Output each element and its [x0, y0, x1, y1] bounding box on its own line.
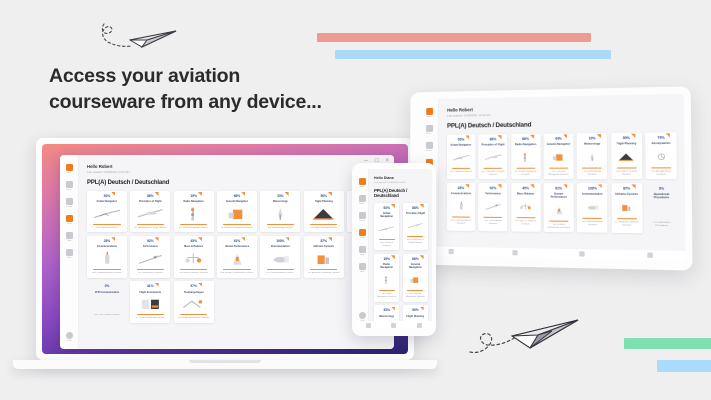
card-thumbnail	[266, 206, 295, 222]
card-progress-percent: 45%	[522, 186, 529, 190]
rail-label: Stats	[67, 240, 71, 242]
card-title: Performance	[485, 192, 501, 195]
rail-label: Mehr	[67, 257, 71, 259]
card-corner-flag	[111, 237, 115, 241]
course-card[interactable]: 50%Flight Planning033 Flight Planning De…	[611, 132, 642, 179]
card-progress-percent: 41%	[147, 284, 154, 288]
card-corner-flag	[563, 134, 567, 138]
rail-item-lernen[interactable]: Lernen	[64, 198, 75, 208]
phone-sidebar-rail: HomeKurseLernenTestsStatsMehrProfil	[356, 169, 369, 329]
phone-course-grid: 53%Airlaw Navigation010 Luftrecht Deutsc…	[374, 203, 428, 330]
card-progress-percent: 57%	[190, 284, 197, 288]
card-caption: 090 Communications Deutsch	[92, 272, 121, 275]
course-card[interactable]: 57%PruefungsfragenPruefungsvorbereitung …	[174, 281, 214, 323]
card-progress-percent: 61%	[234, 239, 241, 243]
card-progress-percent: 100%	[276, 239, 284, 243]
rail-item-profile[interactable]: Profil	[64, 332, 75, 342]
card-progress-percent: 50%	[412, 308, 419, 312]
course-card[interactable]: 45%Mass & Balance031 Mass & Balance Deut…	[174, 236, 214, 278]
phone-body: HomeKurseLernenTestsStatsMehrProfil Hell…	[352, 163, 436, 336]
card-corner-flag	[420, 255, 424, 259]
card-progress-bar	[651, 167, 671, 168]
course-card[interactable]: 66%General Navigation061 General Navigat…	[217, 191, 257, 233]
card-caption: 033 Flight Planning Deutsch	[614, 171, 639, 177]
rail-label: Kurse	[67, 189, 72, 191]
rail-icon	[426, 108, 433, 115]
card-thumbnail	[93, 206, 122, 222]
rail-item-stats[interactable]: Stats	[357, 246, 368, 256]
card-progress-percent: 74%	[657, 135, 664, 139]
card-progress-percent: 53%	[383, 206, 390, 210]
course-card[interactable]: 50%Flight Planning033 Flight Planning De…	[304, 191, 344, 233]
card-thumbnail	[407, 218, 424, 234]
card-progress-bar	[617, 167, 637, 168]
card-progress-bar	[452, 167, 470, 168]
laptop-content: Hello Robert Last opened: 11/06/2019, 10…	[79, 155, 394, 349]
decor-bar-blue-bottom	[657, 360, 711, 372]
window-controls: – □ ×	[365, 158, 389, 164]
card-title: Airframe Systems	[615, 193, 638, 196]
card-corner-flag	[391, 307, 395, 311]
card-progress-bar	[223, 224, 250, 225]
card-title: Mass Balance	[517, 193, 534, 196]
card-progress-percent: 50%	[623, 135, 630, 139]
laptop-sidebar-rail: HomeKurseLernenTestsStatsMehrProfil	[60, 155, 79, 349]
course-card[interactable]: 88%Principles of Flight081 Grundlagen Of…	[130, 191, 170, 233]
card-caption: 090 Communications Deutsch	[449, 220, 472, 226]
card-corner-flag	[328, 237, 332, 241]
card-corner-flag	[155, 283, 159, 287]
laptop-app-window: – □ × HomeKurseLernenTestsStatsMehrProfi…	[60, 155, 394, 349]
card-thumbnail	[309, 206, 338, 222]
course-card[interactable]: 61%Human Performance040 Human Performanc…	[544, 183, 574, 233]
card-progress-bar	[379, 290, 395, 291]
card-corner-flag	[241, 192, 245, 196]
course-card[interactable]: 28%Communications090 Communications Deut…	[447, 183, 475, 232]
card-progress-percent: 19%	[190, 194, 197, 198]
card-title: Radio Navigation	[183, 200, 203, 203]
card-title: Flight Planning	[315, 200, 333, 203]
card-thumbnail	[651, 202, 672, 219]
rail-item-kurse[interactable]: Kurse	[64, 181, 75, 191]
card-corner-flag	[111, 192, 115, 196]
card-caption: 070 Operational Procedures	[649, 221, 675, 227]
tablet-mockup: HomeKurseLernenTestsMehr Hello Robert La…	[410, 92, 676, 264]
card-progress-bar	[549, 220, 568, 222]
rail-icon	[359, 229, 366, 236]
maximize-button[interactable]: □	[375, 158, 379, 164]
card-progress-bar	[516, 217, 535, 219]
card-caption: Pruefungsvorbereitung Deutsch	[178, 317, 209, 320]
card-title: Principles Flight	[406, 212, 425, 215]
chart-icon[interactable]	[417, 323, 422, 328]
card-progress-bar	[180, 269, 207, 270]
course-card[interactable]: 19%Radio Navigation062 Radio Navigation …	[174, 191, 214, 233]
course-card[interactable]: 0%VFR Communication091 VFR Comms Deutsch	[87, 281, 127, 323]
rail-icon	[359, 246, 366, 253]
card-caption: 081 Principles Of Flight Deutsch	[405, 239, 425, 245]
card-corner-flag	[465, 135, 469, 139]
card-corner-flag	[530, 184, 534, 188]
course-card[interactable]: 66%Radio Navigation062 Radio Navigation …	[511, 133, 540, 179]
card-progress-percent: 100%	[588, 186, 597, 190]
card-corner-flag	[631, 134, 635, 138]
rail-label: Lernen	[426, 150, 432, 152]
card-progress-percent: 50%	[320, 194, 327, 198]
tablet-app-window: HomeKurseLernenTestsMehr Hello Robert La…	[420, 94, 686, 261]
card-title: Flight Instruments	[139, 291, 161, 294]
card-corner-flag	[198, 283, 202, 287]
card-title: Communications	[97, 245, 117, 248]
card-thumbnail	[549, 202, 569, 219]
card-caption: 050 Meteorology Deutsch	[580, 171, 605, 177]
card-thumbnail	[179, 251, 208, 267]
card-caption: 032 Performance Deutsch	[481, 220, 505, 226]
greeting: Hello Diana	[374, 176, 428, 180]
card-progress-bar	[407, 290, 423, 291]
card-progress-bar	[267, 269, 294, 270]
card-progress-bar	[137, 224, 164, 225]
phone-app-window: HomeKurseLernenTestsStatsMehrProfil Hell…	[356, 169, 432, 329]
card-thumbnail	[93, 296, 122, 312]
card-corner-flag	[155, 237, 159, 241]
card-caption: 021 Airframe Systems Deutsch	[614, 221, 639, 227]
card-thumbnail	[93, 251, 122, 267]
rail-icon	[426, 142, 433, 149]
card-title: General Navigation	[546, 143, 570, 146]
rail-label: Lernen	[66, 206, 72, 208]
rail-item-home[interactable]: Home	[357, 178, 368, 188]
card-title: Meteorology	[379, 315, 394, 318]
card-corner-flag	[391, 204, 395, 208]
card-corner-flag	[241, 237, 245, 241]
card-thumbnail	[516, 198, 536, 215]
card-progress-bar	[452, 216, 470, 217]
card-corner-flag	[198, 192, 202, 196]
rail-label: Lernen	[359, 220, 365, 222]
card-corner-flag	[631, 184, 635, 188]
card-thumbnail	[483, 149, 502, 165]
card-title: VFR Communication	[95, 291, 120, 294]
card-title: Airframe Systems	[313, 245, 334, 248]
card-progress-bar	[379, 239, 395, 240]
course-card[interactable]: 100%Instrumentation022 Instrumentation D…	[260, 236, 300, 278]
rail-label: Mehr	[360, 271, 364, 273]
rail-item-tests[interactable]: Tests	[357, 229, 368, 239]
card-caption: 061 General Navigation Deutsch	[221, 227, 253, 230]
card-progress-percent: 66%	[522, 136, 529, 140]
card-progress-percent: 61%	[555, 186, 562, 190]
card-progress-bar	[407, 236, 423, 237]
rail-label: Home	[359, 186, 364, 188]
card-thumbnail	[616, 148, 637, 165]
card-thumbnail	[266, 251, 295, 267]
course-card[interactable]: 66%General Navigation061 General Navigat…	[403, 254, 428, 302]
rail-label: Stats	[360, 254, 364, 256]
course-card[interactable]: 53%Airlaw Navigation010 Luftrecht Deutsc…	[447, 134, 475, 179]
card-corner-flag	[391, 255, 395, 259]
card-caption: 040 Human Performance Deutsch	[547, 224, 571, 230]
rail-icon	[66, 164, 73, 171]
rail-item-mehr[interactable]: Mehr	[64, 249, 75, 259]
card-title: Human Performance	[547, 193, 571, 200]
card-thumbnail	[223, 206, 252, 222]
card-caption: 032 Performance Deutsch	[138, 272, 163, 275]
tablet-course-grid: 53%Airlaw Navigation010 Luftrecht Deutsc…	[447, 132, 678, 234]
card-title: Aerodynamics	[651, 142, 670, 145]
course-card[interactable]: 44%General Navigation061 General Navigat…	[544, 133, 574, 179]
rail-icon	[426, 125, 433, 132]
rail-item-home[interactable]: Home	[424, 108, 435, 118]
card-title: Airlaw Navigation	[96, 200, 117, 203]
card-corner-flag	[598, 184, 602, 188]
card-title: Principles of Flight	[481, 143, 504, 146]
card-caption: 081 Grundlagen Of Flight Deutsch	[134, 227, 167, 230]
course-card[interactable]: 45%Mass Balance031 Mass & Balance Deutsc…	[511, 183, 540, 233]
tablet-body: HomeKurseLernenTestsMehr Hello Robert La…	[410, 86, 693, 270]
card-thumbnail	[582, 148, 602, 165]
card-progress-bar	[583, 167, 602, 168]
rail-label: Home	[66, 172, 71, 174]
page-title: Access your aviation courseware from any…	[49, 63, 322, 115]
greeting: Hello Robert	[87, 164, 387, 169]
decor-bar-green	[624, 338, 711, 349]
greeting-subtext: Last opened: 11/06/2019, 10:42 ›	[374, 182, 428, 184]
card-title: Instrumentation	[582, 193, 602, 196]
card-progress-percent: 19%	[589, 136, 596, 140]
paper-plane-top-left-icon	[96, 16, 182, 63]
rail-icon	[66, 181, 73, 188]
card-progress-bar	[484, 167, 502, 168]
rail-icon	[66, 215, 73, 222]
course-card[interactable]: 53%Airlaw Navigation010 Luftrecht Deutsc…	[374, 203, 399, 251]
card-thumbnail	[582, 199, 602, 216]
book-icon[interactable]	[513, 250, 518, 255]
card-progress-percent: 28%	[458, 186, 465, 190]
phone-mockup: HomeKurseLernenTestsStatsMehrProfil Hell…	[352, 163, 436, 336]
card-corner-flag	[285, 237, 289, 241]
card-thumbnail	[378, 221, 395, 237]
card-corner-flag	[497, 135, 501, 139]
card-progress-bar	[310, 269, 337, 270]
card-progress-bar	[583, 217, 602, 219]
rail-label: Tests	[67, 223, 71, 225]
card-thumbnail	[378, 272, 395, 288]
book-icon[interactable]	[391, 323, 396, 328]
card-caption: 081 Principles Of Flight Deutsch	[481, 171, 505, 177]
user-icon[interactable]	[648, 253, 654, 258]
card-title: Flight Planning	[406, 315, 424, 318]
card-progress-percent: 87%	[320, 239, 327, 243]
card-thumbnail	[223, 251, 252, 267]
card-progress-bar	[180, 224, 207, 225]
card-title: Human Performance	[225, 245, 249, 248]
card-caption: 061 General Navigation Deutsch	[405, 293, 425, 299]
grid-icon[interactable]	[448, 249, 453, 254]
card-corner-flag	[285, 192, 289, 196]
close-button[interactable]: ×	[385, 158, 389, 164]
tablet-content: Hello Robert Last opened: 11/06/2019, 10…	[439, 94, 686, 261]
course-title: PPL(A) Deutsch / Deutschland	[447, 120, 676, 129]
card-title: Instrumentation	[271, 245, 290, 248]
card-progress-percent: 87%	[623, 186, 630, 190]
card-progress-percent: 92%	[147, 239, 154, 243]
card-thumbnail	[309, 251, 338, 267]
card-corner-flag	[198, 237, 202, 241]
card-corner-flag	[497, 184, 501, 188]
chart-icon[interactable]	[579, 251, 584, 256]
card-caption: 040 Human Performance Deutsch	[220, 272, 253, 275]
card-corner-flag	[328, 192, 332, 196]
card-progress-bar	[549, 167, 568, 168]
card-thumbnail	[483, 198, 502, 215]
card-progress-bar	[93, 224, 120, 225]
course-card[interactable]: 41%Flight Instruments022 Flight Instrume…	[130, 281, 170, 323]
card-title: General Navigation	[405, 263, 425, 269]
card-thumbnail	[616, 199, 637, 216]
rail-icon	[359, 178, 366, 185]
card-title: Principles of Flight	[139, 200, 162, 203]
phone-content: Hello Diana Last opened: 11/06/2019, 10:…	[369, 169, 432, 329]
course-card[interactable]: 61%Human Performance040 Human Performanc…	[217, 236, 257, 278]
rail-item-kurse[interactable]: Kurse	[424, 125, 435, 135]
card-progress-percent: 0%	[105, 284, 110, 288]
user-icon	[66, 332, 73, 339]
rail-icon	[66, 232, 73, 239]
card-caption: 010 Luftrecht Deutsch	[96, 227, 117, 230]
card-caption: 062 Radio Navigation Deutsch	[179, 227, 209, 230]
card-progress-bar	[223, 269, 250, 270]
card-caption: 010 Luftrecht Deutsch	[377, 242, 397, 248]
course-card[interactable]: 0%Operational Procedures070 Operational …	[646, 183, 678, 234]
rail-item-stats[interactable]: Stats	[64, 232, 75, 242]
laptop-notch	[189, 360, 261, 363]
card-caption: 061 General Navigation Deutsch	[547, 171, 571, 177]
card-corner-flag	[666, 133, 671, 137]
rail-item-tests[interactable]: Tests	[64, 215, 75, 225]
card-caption: 022 Flight Instruments Deutsch	[135, 317, 165, 320]
rail-item-home[interactable]: Home	[64, 164, 75, 174]
card-caption: 031 Mass & Balance Deutsch	[179, 272, 208, 275]
course-card[interactable]: 19%Meteorology050 Meteorology Deutsch	[577, 132, 607, 179]
card-progress-percent: 92%	[490, 186, 497, 190]
card-progress-percent: 66%	[412, 257, 419, 261]
paper-plane-bottom-right-icon	[466, 308, 584, 365]
course-card[interactable]: 92%Performance032 Performance Deutsch	[130, 236, 170, 278]
card-progress-percent: 53%	[458, 137, 465, 141]
card-title: Meteorology	[584, 142, 600, 145]
course-card[interactable]: 74%Aerodynamics080 Aerodynamics Deutsch	[645, 132, 677, 180]
rail-icon	[66, 198, 73, 205]
phone-bottom-nav	[356, 321, 432, 329]
course-title: PPL(A) Deutsch / Deutschland	[374, 188, 428, 198]
rail-label: Tests	[360, 237, 364, 239]
card-caption: 091 VFR Comms Deutsch	[94, 314, 119, 317]
card-progress-bar	[617, 218, 637, 220]
rail-icon	[66, 249, 73, 256]
card-title: General Navigation	[226, 200, 249, 203]
card-progress-percent: 0%	[659, 186, 664, 190]
card-progress-percent: 53%	[104, 194, 111, 198]
card-progress-bar	[484, 217, 502, 219]
card-progress-percent: 88%	[412, 206, 419, 210]
card-title: Flight Planning	[616, 142, 636, 145]
laptop-course-grid: 53%Airlaw Navigation010 Luftrecht Deutsc…	[87, 191, 387, 323]
card-thumbnail	[179, 296, 208, 312]
card-caption: 022 Instrumentation Deutsch	[266, 272, 294, 275]
card-progress-bar	[137, 314, 164, 315]
course-card[interactable]: 87%Airframe Systems021 Airframe & System…	[304, 236, 344, 278]
rail-item-lernen[interactable]: Lernen	[424, 142, 435, 152]
laptop-base	[13, 360, 437, 369]
card-thumbnail	[452, 149, 471, 165]
card-progress-percent: 88%	[490, 137, 497, 141]
card-thumbnail	[136, 206, 165, 222]
card-thumbnail	[136, 251, 165, 267]
card-corner-flag	[530, 135, 534, 139]
course-card[interactable]: 19%Radio Navigation062 Radio Navigation …	[374, 254, 399, 302]
card-progress-percent: 45%	[190, 239, 197, 243]
card-progress-bar	[267, 224, 294, 225]
card-progress-bar	[93, 269, 120, 270]
course-card[interactable]: 87%Airframe Systems021 Airframe Systems …	[611, 183, 642, 234]
course-card[interactable]: 53%Airlaw Navigation010 Luftrecht Deutsc…	[87, 191, 127, 233]
decor-bar-blue-top	[335, 50, 611, 59]
rail-label: Kurse	[360, 203, 365, 205]
rail-item-lernen[interactable]: Lernen	[357, 212, 368, 222]
rail-label: Kurse	[427, 133, 432, 135]
course-card[interactable]: 88%Principles of Flight081 Principles Of…	[479, 134, 508, 180]
course-card[interactable]: 100%Instrumentation022 Instrumentation D…	[577, 183, 607, 233]
card-caption: 010 Luftrecht Deutsch	[450, 171, 472, 174]
rail-icon	[359, 263, 366, 270]
course-card[interactable]: 28%Communications090 Communications Deut…	[87, 236, 127, 278]
rail-icon	[359, 212, 366, 219]
card-corner-flag	[420, 204, 424, 208]
card-progress-percent: 33%	[277, 194, 284, 198]
card-progress-percent: 33%	[383, 308, 390, 312]
card-caption: 021 Airframe & Systems Deutsch	[308, 272, 340, 275]
rail-item-kurse[interactable]: Kurse	[357, 195, 368, 205]
card-caption: 050 Meteorology Deutsch	[268, 227, 293, 230]
card-title: Radio Navigation	[515, 143, 536, 146]
course-card[interactable]: 92%Performance032 Performance Deutsch	[479, 183, 508, 232]
card-caption: 080 Aerodynamics Deutsch	[648, 170, 674, 176]
grid-icon[interactable]	[366, 323, 371, 328]
card-title: Operational Procedures	[649, 193, 675, 200]
card-progress-bar	[310, 224, 337, 225]
card-progress-bar	[516, 167, 535, 168]
course-card[interactable]: 33%Meteorology050 Meteorology Deutsch	[260, 191, 300, 233]
card-title: Meteorology	[273, 200, 288, 203]
card-caption: 062 Radio Navigation Deutsch	[514, 171, 538, 177]
poster-canvas: Access your aviation courseware from any…	[0, 0, 711, 400]
card-thumbnail	[516, 149, 536, 166]
card-corner-flag	[465, 184, 469, 188]
course-title: PPL(A) Deutsch / Deutschland	[87, 180, 387, 186]
card-title: Performance	[143, 245, 158, 248]
card-thumbnail	[407, 272, 424, 288]
card-progress-percent: 66%	[234, 194, 241, 198]
rail-item-mehr[interactable]: Mehr	[357, 263, 368, 273]
greeting-subtext: Last opened: 11/06/2019, 10:42:16 ›	[87, 171, 387, 174]
rail-icon	[359, 195, 366, 202]
card-title: Airlaw Navigation	[450, 144, 471, 147]
card-corner-flag	[420, 307, 424, 311]
course-card[interactable]: 88%Principles Flight081 Principles Of Fl…	[403, 203, 428, 251]
minimize-button[interactable]: –	[365, 158, 368, 164]
card-progress-percent: 19%	[383, 257, 390, 261]
